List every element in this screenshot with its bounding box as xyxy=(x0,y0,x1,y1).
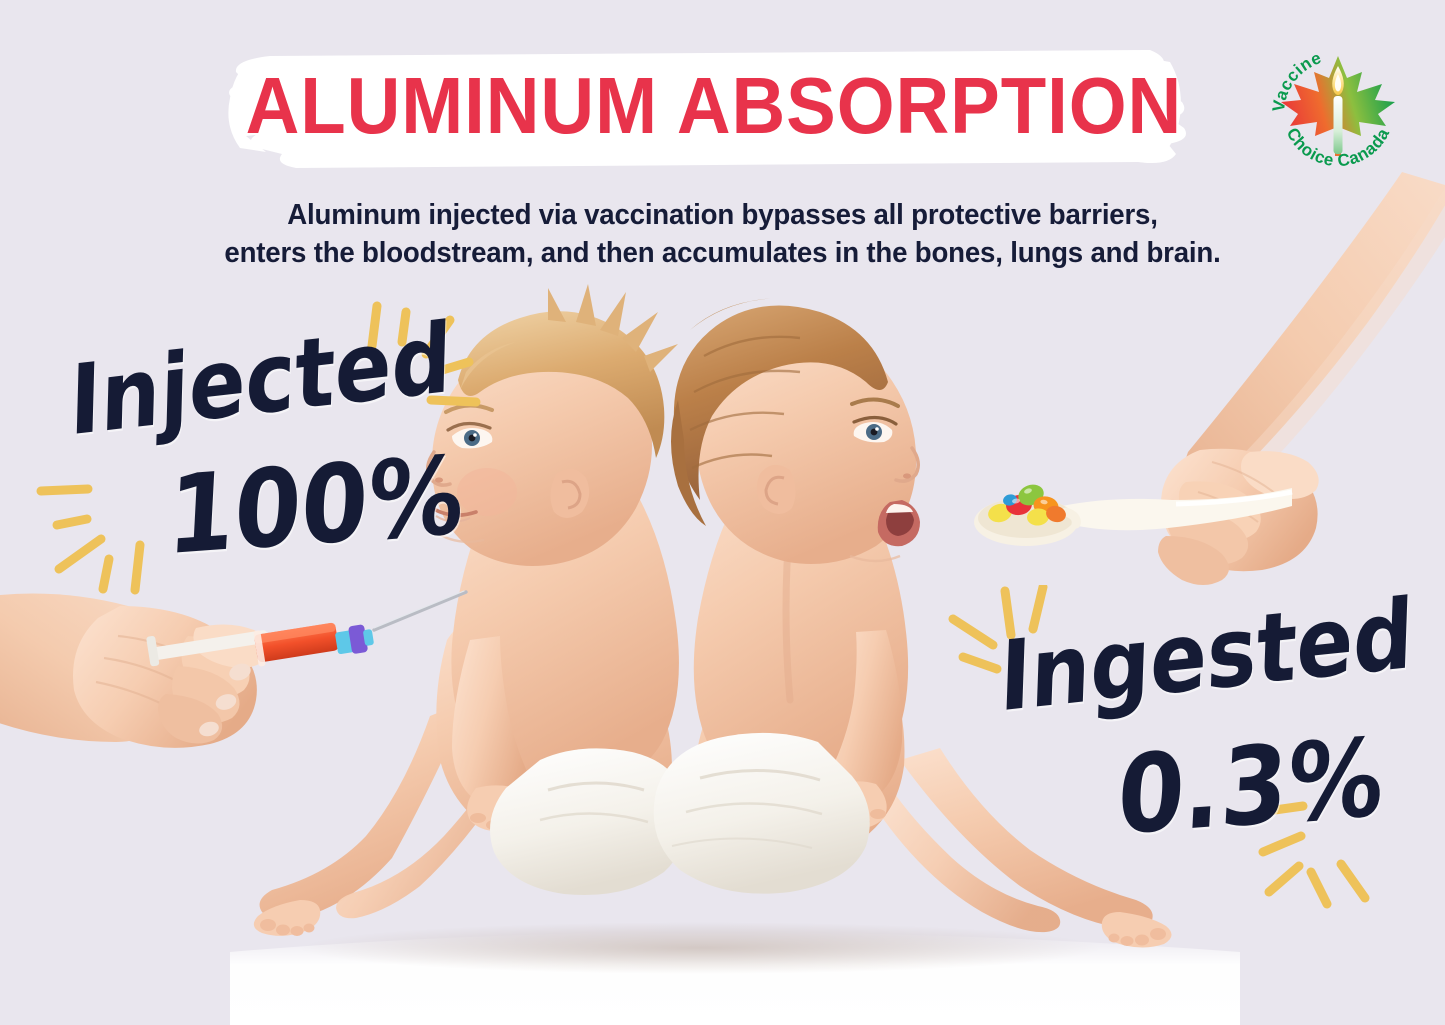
floor-surface xyxy=(230,922,1240,1025)
subtitle: Aluminum injected via vaccination bypass… xyxy=(22,196,1424,272)
candle-icon xyxy=(1332,66,1344,154)
injected-value: 100% xyxy=(165,432,467,579)
ingested-value: 0.3% xyxy=(1115,714,1387,859)
subtitle-line-1: Aluminum injected via vaccination bypass… xyxy=(22,196,1424,234)
vaccine-choice-canada-logo[interactable]: Vaccine Choice Canada xyxy=(1262,30,1414,182)
subtitle-line-2: enters the bloodstream, and then accumul… xyxy=(22,234,1424,272)
page-title: ALUMINUM ABSORPTION xyxy=(252,36,1159,176)
title-banner: ALUMINUM ABSORPTION xyxy=(218,36,1193,176)
infographic-poster: ALUMINUM ABSORPTION xyxy=(0,0,1445,1025)
